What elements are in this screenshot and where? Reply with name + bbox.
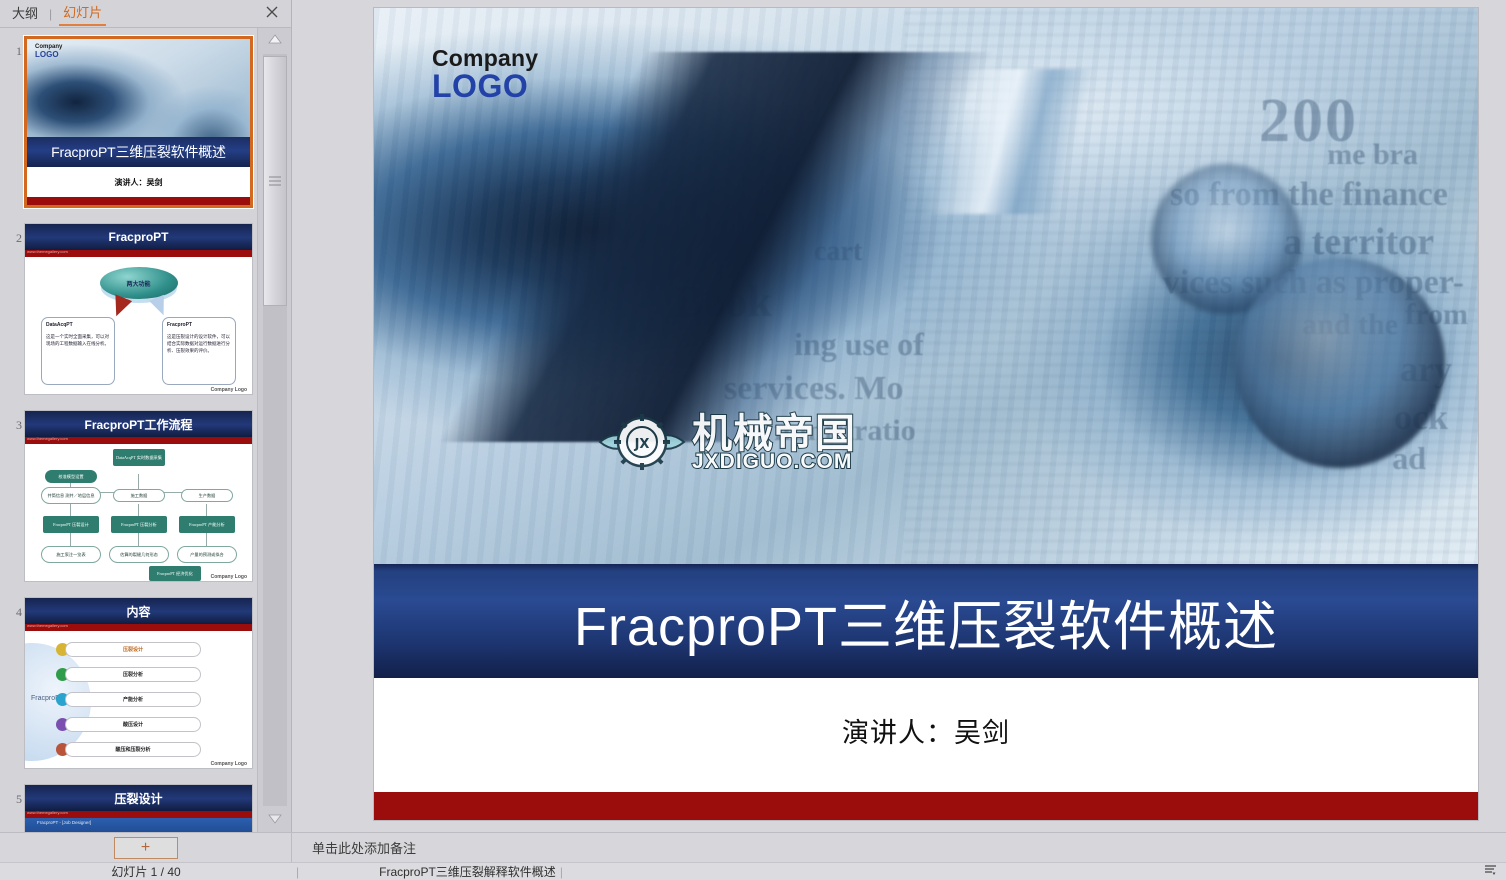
status-bar: 幻灯片 1 / 40 | FracproPT三维压裂解释软件概述 | [0, 862, 1506, 880]
thumbnail-url-strip [25, 811, 252, 818]
thumbnail-scrollbar[interactable] [257, 28, 291, 832]
thumbnail-title: FracproPT三维压裂软件概述 [27, 137, 250, 167]
slide-logo-text: LOGO [432, 70, 538, 104]
powerpoint-window: 大纲 | 幻灯片 1 Company LOGO FracproPT三维压裂软件概… [0, 0, 1506, 880]
notes-bar: + 单击此处添加备注 [0, 832, 1506, 862]
thumbnail-frame: FracproPT工作流程 DataAcqPT 实时数据采集 [24, 410, 253, 582]
status-divider-1: | [292, 865, 303, 879]
add-slide-button[interactable]: + [114, 837, 178, 859]
agenda-item: 酸压设计 [65, 717, 201, 732]
embedded-window-title: FracproPT - [Job Designer] [37, 820, 91, 825]
watermark: JX 机械帝国 JXDIGUO.COM [598, 412, 856, 474]
thumbnail-body: FracproPT - [Job Designer] 文件(F) 编辑(E) 视… [25, 818, 252, 832]
flow-node: FracproPT 压裂设计 [43, 516, 99, 533]
thumbnail-subtitle: 演讲人：吴剑 [27, 167, 250, 197]
thumbnail-red-bar [27, 197, 250, 205]
tab-outline[interactable]: 大纲 [8, 3, 42, 25]
flow-node: 产量的预测或拟合 [177, 546, 237, 563]
agenda-item: 压裂设计 [65, 642, 201, 657]
slide-counter: 幻灯片 1 / 40 [0, 863, 292, 880]
diagram-box-right: FracproPT 这是压裂设计的设计软件，可以结合实际数据对运行数据进行分析、… [162, 317, 236, 385]
thumbnail-frame: Company LOGO FracproPT三维压裂软件概述 演讲人：吴剑 [24, 36, 253, 208]
thumbnail-title: 压裂设计 [25, 785, 252, 811]
watermark-text: 机械帝国 JXDIGUO.COM [692, 414, 856, 472]
chevron-down-icon [268, 811, 282, 829]
flow-node: FracproPT 压裂分析 [111, 516, 167, 533]
watermark-chinese: 机械帝国 [692, 414, 856, 454]
close-icon[interactable] [265, 5, 281, 21]
thumbnail-url-strip [25, 437, 252, 444]
slide-number: 5 [6, 792, 22, 807]
diagram-box-left: DataAcqPT 这是一个实时全面采集，可以对现场的工程数据输入在线分析。 [41, 317, 115, 385]
agenda-item: 压裂分析 [65, 667, 201, 682]
thumbnail-title: FracproPT [25, 224, 252, 250]
slide-logo: Company LOGO [432, 46, 538, 104]
panel-tab-strip: 大纲 | 幻灯片 [0, 0, 291, 28]
slide-thumbnail-2[interactable]: 2 FracproPT 两大功能 DataAcqPT 这是一个实时全面采集，可以… [0, 223, 258, 410]
notes-input[interactable]: 单击此处添加备注 [292, 838, 416, 857]
photo-word: a territor [1283, 220, 1434, 264]
add-slide-area: + [0, 833, 292, 862]
embedded-window-titlebar: FracproPT - [Job Designer] [25, 818, 252, 832]
thumbnail-body: FracproPT 压裂设计 压裂分析 产能分析 酸压设计 酸压和压裂分析 Co… [25, 631, 252, 769]
scroll-down-button[interactable] [261, 808, 289, 832]
slide-number: 4 [6, 605, 22, 620]
flow-node: 估算的裂缝几何形态 [109, 546, 169, 563]
diagram-box-right-title: FracproPT [167, 322, 231, 329]
slide-number: 3 [6, 418, 22, 433]
slide-title: FracproPT三维压裂软件概述 [574, 582, 1278, 661]
thumbnail-url-strip [25, 250, 252, 257]
slide-thumbnail-list[interactable]: 1 Company LOGO FracproPT三维压裂软件概述 演讲人：吴剑 … [0, 28, 258, 832]
thumbnail-frame: FracproPT 两大功能 DataAcqPT 这是一个实时全面采集，可以对现… [24, 223, 253, 395]
tab-slides[interactable]: 幻灯片 [59, 2, 106, 26]
flow-node: 校准模型设置 [45, 470, 97, 483]
thumbnail-footer: Company Logo [211, 574, 247, 580]
thumbnail-footer: Company Logo [211, 761, 247, 767]
watermark-domain: JXDIGUO.COM [692, 451, 856, 472]
thumbnail-title: 内容 [25, 598, 252, 624]
flow-node: 生产数据 [181, 489, 233, 502]
thumbnail-title: FracproPT工作流程 [25, 411, 252, 437]
diagram-box-left-title: DataAcqPT [46, 322, 110, 329]
thumbnail-body: 两大功能 DataAcqPT 这是一个实时全面采集，可以对现场的工程数据输入在线… [25, 257, 252, 395]
chevron-up-icon [268, 31, 282, 49]
scroll-up-button[interactable] [261, 28, 289, 52]
thumbnail-footer: Company Logo [211, 387, 247, 393]
slide-number: 1 [6, 44, 22, 59]
slide-thumbnail-1[interactable]: 1 Company LOGO FracproPT三维压裂软件概述 演讲人：吴剑 [0, 36, 258, 223]
slide-editor-stage[interactable]: 200 me bra so from the finance a territo… [293, 0, 1506, 832]
winged-gear-icon: JX [598, 412, 686, 474]
current-slide[interactable]: 200 me bra so from the finance a territo… [374, 8, 1478, 820]
slide-number: 2 [6, 231, 22, 246]
slide-logo-company: Company [432, 46, 538, 70]
gear-front-shape [1235, 258, 1445, 468]
slide-subtitle-area[interactable]: 演讲人：吴剑 [374, 678, 1478, 792]
slide-thumbnail-4[interactable]: 4 内容 FracproPT 压裂设计 压裂分析 产能分析 酸压设计 [0, 597, 258, 784]
flow-node: FracproPT 经济优化 [149, 566, 201, 581]
presentation-title: FracproPT三维压裂解释软件概述 [303, 863, 556, 880]
thumbnail-body: DataAcqPT 实时数据采集 校准模型设置 井筒信息 测井／地层信息 施工数… [25, 444, 252, 582]
thumbnail-logo: Company LOGO [35, 44, 62, 58]
slide-background-photo: 200 me bra so from the finance a territo… [374, 8, 1478, 564]
pen-nib-shape [838, 69, 1213, 214]
tab-separator: | [49, 7, 52, 21]
status-divider-2: | [556, 865, 567, 879]
photo-word: me bra [1327, 138, 1418, 172]
agenda-item: 酸压和压裂分析 [65, 742, 201, 757]
status-right-group [1484, 863, 1498, 880]
slide-title-bar[interactable]: FracproPT三维压裂软件概述 [374, 564, 1478, 678]
view-options-icon[interactable] [1484, 863, 1498, 880]
scrollbar-thumb[interactable] [263, 56, 287, 306]
slide-thumbnail-3[interactable]: 3 FracproPT工作流程 [0, 410, 258, 597]
agenda-item: 产能分析 [65, 692, 201, 707]
flow-node: 井筒信息 测井／地层信息 [41, 487, 101, 504]
slides-panel: 大纲 | 幻灯片 1 Company LOGO FracproPT三维压裂软件概… [0, 0, 292, 832]
slide-accent-bar [374, 792, 1478, 820]
slide-subtitle: 演讲人：吴剑 [842, 711, 1010, 750]
thumbnail-url-strip [25, 624, 252, 631]
flow-node: FracproPT 产能分析 [179, 516, 235, 533]
diagram-center-label: 两大功能 [100, 267, 178, 299]
diagram-arrow-right-icon [149, 295, 171, 319]
grip-icon [269, 174, 281, 189]
flow-node: 施工泵注一览表 [41, 546, 101, 563]
flow-node: 施工数据 [113, 489, 165, 502]
diagram-box-left-text: 这是一个实时全面采集，可以对现场的工程数据输入在线分析。 [46, 334, 109, 346]
slide-thumbnail-5[interactable]: 5 压裂设计 FracproPT - [Job Designer] 文件(F) … [0, 784, 258, 832]
thumbnail-frame: 压裂设计 FracproPT - [Job Designer] 文件(F) 编辑… [24, 784, 253, 832]
diagram-box-right-text: 这是压裂设计的设计软件，可以结合实际数据对运行数据进行分析、压裂效果的评价。 [167, 334, 230, 353]
thumbnail-frame: 内容 FracproPT 压裂设计 压裂分析 产能分析 酸压设计 [24, 597, 253, 769]
svg-text:JX: JX [634, 437, 650, 452]
flow-node: DataAcqPT 实时数据采集 [113, 449, 165, 466]
thumbnail-logo-text: LOGO [35, 51, 62, 58]
